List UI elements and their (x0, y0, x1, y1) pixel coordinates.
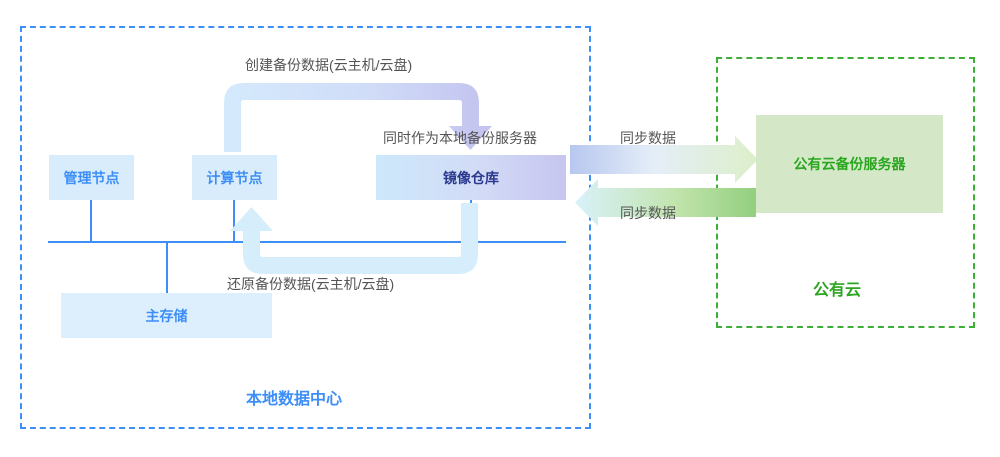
arrow-layer (0, 0, 1000, 457)
label-restore-backup: 还原备份数据(云主机/云盘) (227, 274, 394, 294)
node-compute[interactable]: 计算节点 (192, 155, 277, 200)
node-image-repository[interactable]: 镜像仓库 (376, 155, 566, 200)
label-create-backup: 创建备份数据(云主机/云盘) (245, 55, 412, 75)
diagram-canvas: 本地数据中心 公有云 (0, 0, 1000, 457)
node-public-cloud-backup-server[interactable]: 公有云备份服务器 (756, 115, 943, 213)
node-primary-storage[interactable]: 主存储 (61, 293, 272, 338)
label-repo-note: 同时作为本地备份服务器 (383, 128, 537, 148)
restore-backup-arrow (230, 203, 478, 274)
label-sync-data-top: 同步数据 (620, 128, 676, 148)
label-sync-data-bottom: 同步数据 (620, 203, 676, 223)
node-management[interactable]: 管理节点 (49, 155, 134, 200)
